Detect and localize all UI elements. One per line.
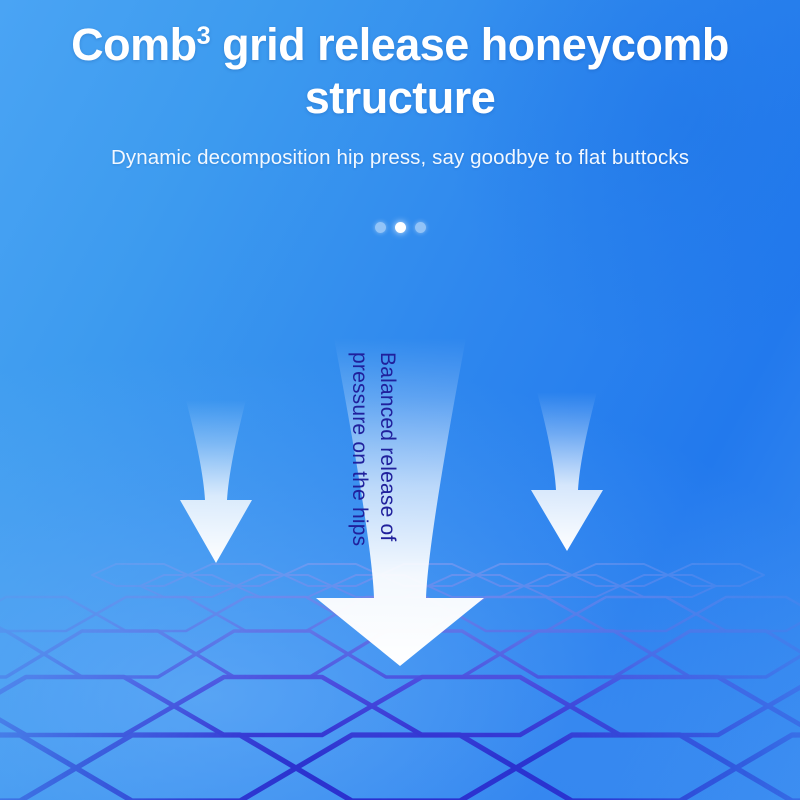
promo-poster: pressure on the hips Balanced release of… xyxy=(0,0,800,800)
page-title: Comb3 grid release honeycomb structure xyxy=(0,0,800,124)
title-main-text: Comb xyxy=(71,19,197,70)
carousel-dot-2[interactable] xyxy=(395,222,406,233)
poster-header: Comb3 grid release honeycomb structure D… xyxy=(0,0,800,170)
title-rest-text: grid release honeycomb structure xyxy=(210,19,729,123)
title-superscript: 3 xyxy=(197,22,211,50)
carousel-dot-3[interactable] xyxy=(415,222,426,233)
carousel-dot-1[interactable] xyxy=(375,222,386,233)
page-subtitle: Dynamic decomposition hip press, say goo… xyxy=(0,124,800,170)
carousel-dots[interactable] xyxy=(0,222,800,233)
center-pressure-arrow xyxy=(316,338,484,666)
left-pressure-arrow xyxy=(180,400,252,563)
right-pressure-arrow xyxy=(531,392,603,551)
